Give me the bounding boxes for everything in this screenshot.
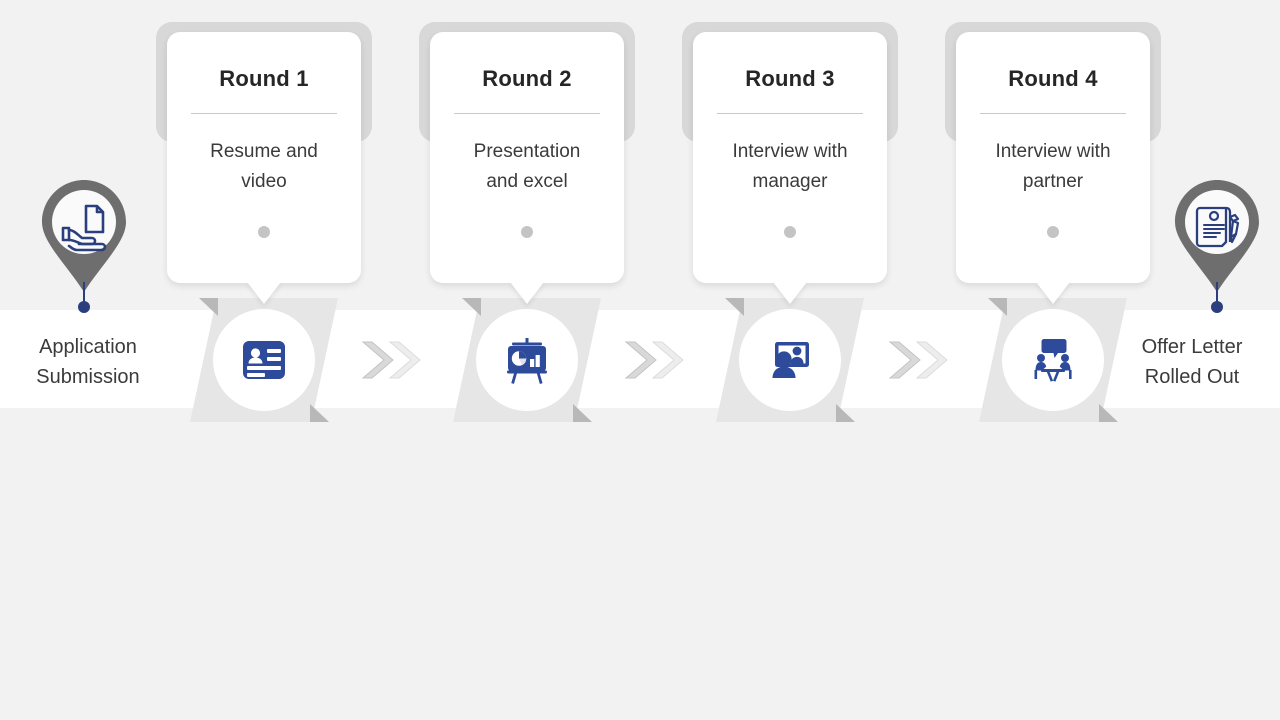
- presentation-board-icon: [498, 331, 556, 389]
- separator-2: [620, 336, 686, 384]
- card-divider: [980, 113, 1126, 114]
- fold-corner-bottom-right: [573, 404, 592, 422]
- card-title: Round 2: [430, 66, 624, 92]
- card-bullet-dot: [1047, 226, 1059, 238]
- fold-corner-top-left: [199, 298, 218, 316]
- start-pin-marker[interactable]: [36, 178, 132, 313]
- card-pointer: [773, 282, 807, 304]
- fold-corner-bottom-right: [310, 404, 329, 422]
- video-interview-icon: [761, 331, 819, 389]
- double-chevron-right-icon: [620, 336, 686, 384]
- hand-holding-document-icon: [56, 198, 112, 254]
- id-card-icon: [236, 332, 292, 388]
- end-label-line-2: Rolled Out: [1107, 362, 1277, 392]
- end-label: Offer Letter Rolled Out: [1107, 332, 1277, 392]
- card-body-line-1: Resume and: [177, 137, 351, 167]
- double-chevron-right-icon: [357, 336, 423, 384]
- start-label: Application Submission: [3, 332, 173, 392]
- end-pin-marker[interactable]: [1169, 178, 1265, 313]
- card-body-line-2: manager: [703, 167, 877, 197]
- stage-icon-circle: [476, 309, 578, 411]
- process-flow-diagram: Round 1 Resume and video Round 2 Present…: [0, 0, 1280, 720]
- stage-icon-circle: [1002, 309, 1104, 411]
- pin-bead: [78, 301, 90, 313]
- fold-corner-top-left: [988, 298, 1007, 316]
- start-label-line-2: Submission: [3, 362, 173, 392]
- card-body: Interview with manager: [703, 137, 877, 197]
- card-bullet-dot: [521, 226, 533, 238]
- card-title: Round 3: [693, 66, 887, 92]
- card-body-line-1: Interview with: [966, 137, 1140, 167]
- stage-icon-circle: [739, 309, 841, 411]
- card-bullet-dot: [784, 226, 796, 238]
- stage-card-round-3[interactable]: Round 3 Interview with manager: [693, 22, 887, 297]
- card-body-line-1: Presentation: [440, 137, 614, 167]
- stage-node-round-2[interactable]: [453, 298, 601, 422]
- stage-card-round-1[interactable]: Round 1 Resume and video: [167, 22, 361, 297]
- pin-bead: [1211, 301, 1223, 313]
- fold-corner-top-left: [725, 298, 744, 316]
- fold-corner-top-left: [462, 298, 481, 316]
- separator-3: [884, 336, 950, 384]
- meeting-table-icon: [1024, 331, 1082, 389]
- card-body-line-1: Interview with: [703, 137, 877, 167]
- stage-card-round-4[interactable]: Round 4 Interview with partner: [956, 22, 1150, 297]
- card-body: Resume and video: [177, 137, 351, 197]
- double-chevron-right-icon: [884, 336, 950, 384]
- card-bullet-dot: [258, 226, 270, 238]
- stage-node-round-1[interactable]: [190, 298, 338, 422]
- card-divider: [454, 113, 600, 114]
- stage-node-round-4[interactable]: [979, 298, 1127, 422]
- card-body-line-2: partner: [966, 167, 1140, 197]
- document-with-pen-icon: [1189, 198, 1245, 254]
- stage-icon-circle: [213, 309, 315, 411]
- card-pointer: [510, 282, 544, 304]
- card-pointer: [247, 282, 281, 304]
- card-pointer: [1036, 282, 1070, 304]
- card-title: Round 4: [956, 66, 1150, 92]
- card-body-line-2: and excel: [440, 167, 614, 197]
- start-label-line-1: Application: [3, 332, 173, 362]
- card-body: Interview with partner: [966, 137, 1140, 197]
- separator-1: [357, 336, 423, 384]
- card-divider: [191, 113, 337, 114]
- fold-corner-bottom-right: [1099, 404, 1118, 422]
- stage-node-round-3[interactable]: [716, 298, 864, 422]
- card-title: Round 1: [167, 66, 361, 92]
- end-label-line-1: Offer Letter: [1107, 332, 1277, 362]
- card-body: Presentation and excel: [440, 137, 614, 197]
- card-divider: [717, 113, 863, 114]
- fold-corner-bottom-right: [836, 404, 855, 422]
- stage-card-round-2[interactable]: Round 2 Presentation and excel: [430, 22, 624, 297]
- card-body-line-2: video: [177, 167, 351, 197]
